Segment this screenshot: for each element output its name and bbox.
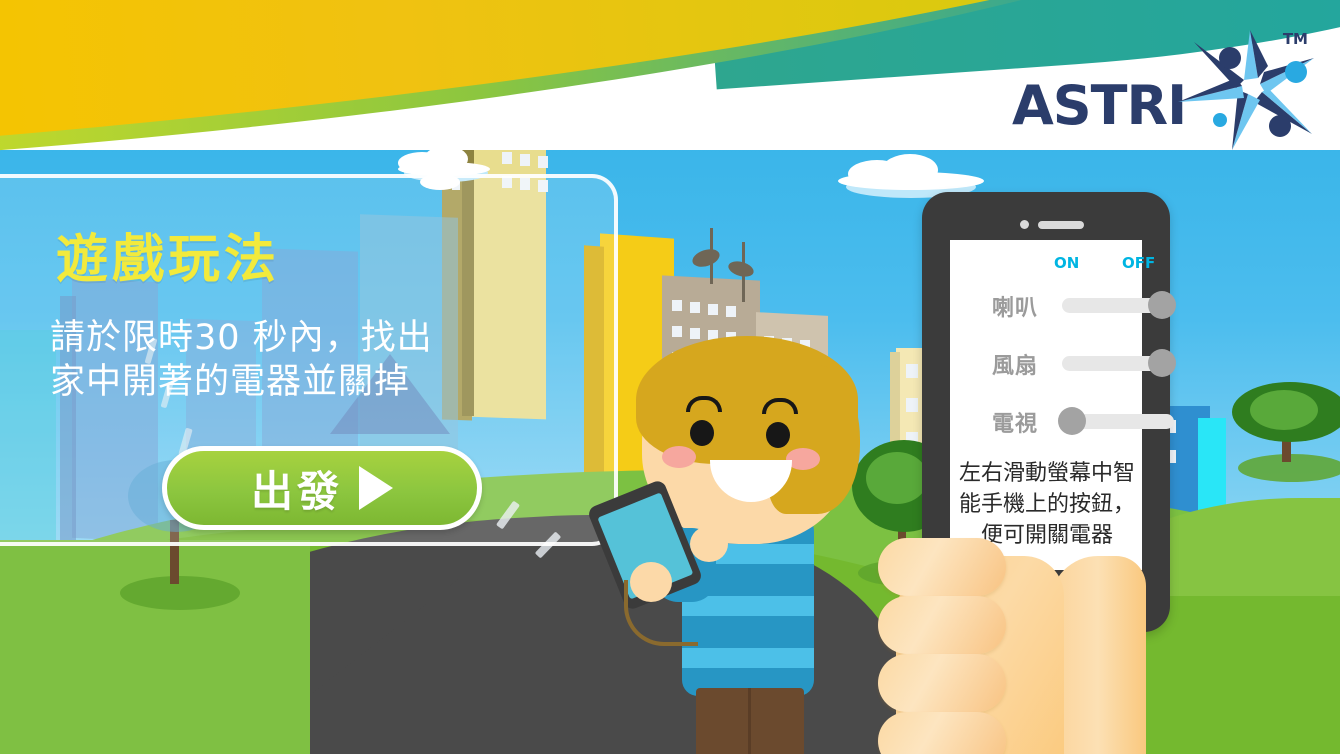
- shirt-stripe-3: [682, 648, 814, 668]
- boy-eye-left: [690, 420, 714, 446]
- boy-cheek-left: [662, 446, 696, 468]
- antenna-pole-2: [742, 242, 745, 302]
- instruction-text: 請於限時30 秒內，找出 家中開著的電器並關掉: [50, 316, 570, 404]
- device-label-tv: 電視: [992, 406, 1038, 438]
- page-title: 遊戲玩法: [56, 234, 280, 286]
- hand-finger-3: [878, 654, 1006, 712]
- off-label: OFF: [1122, 254, 1155, 272]
- slider-knob-tv[interactable]: [1058, 407, 1086, 435]
- boy-eye-right: [766, 422, 790, 448]
- play-triangle-icon: [359, 466, 393, 510]
- start-button[interactable]: 出發: [162, 446, 482, 530]
- on-label: ON: [1054, 254, 1079, 272]
- phone-lanyard: [624, 580, 698, 646]
- boy-pants-seam: [748, 688, 751, 754]
- astri-star-burst-icon: [1172, 22, 1322, 152]
- instruction-line-1: 請於限時30 秒內，找出: [50, 316, 570, 360]
- hand-finger-4: [878, 712, 1006, 754]
- device-label-fan: 風扇: [992, 348, 1038, 380]
- boy-character: [600, 330, 900, 754]
- device-row-fan[interactable]: 風扇: [950, 344, 1142, 384]
- grass-left-field: [0, 540, 310, 754]
- slider-knob-speaker[interactable]: [1148, 291, 1176, 319]
- front-camera-icon: [1020, 220, 1029, 229]
- slider-knob-fan[interactable]: [1148, 349, 1176, 377]
- start-button-label: 出發: [251, 458, 343, 519]
- device-row-tv[interactable]: 電視: [950, 402, 1142, 442]
- astri-wordmark: ASTRI: [1012, 74, 1186, 137]
- hand-finger-2: [878, 596, 1006, 654]
- boy-hand-upper: [690, 526, 728, 562]
- astri-logo[interactable]: ASTRI TM: [1012, 22, 1312, 142]
- hand-thumb: [1050, 556, 1146, 754]
- earpiece-speaker-icon: [1038, 221, 1084, 229]
- hand-holding-phone: [868, 470, 1168, 754]
- device-row-speaker[interactable]: 喇叭: [950, 286, 1142, 326]
- hand-finger-1: [878, 538, 1006, 596]
- game-instructions-screen: ASTRI TM 遊戲玩法 請於限時: [0, 0, 1340, 754]
- device-label-speaker: 喇叭: [992, 290, 1038, 322]
- instruction-line-2: 家中開著的電器並關掉: [50, 360, 570, 404]
- onoff-header: ON OFF: [950, 254, 1142, 274]
